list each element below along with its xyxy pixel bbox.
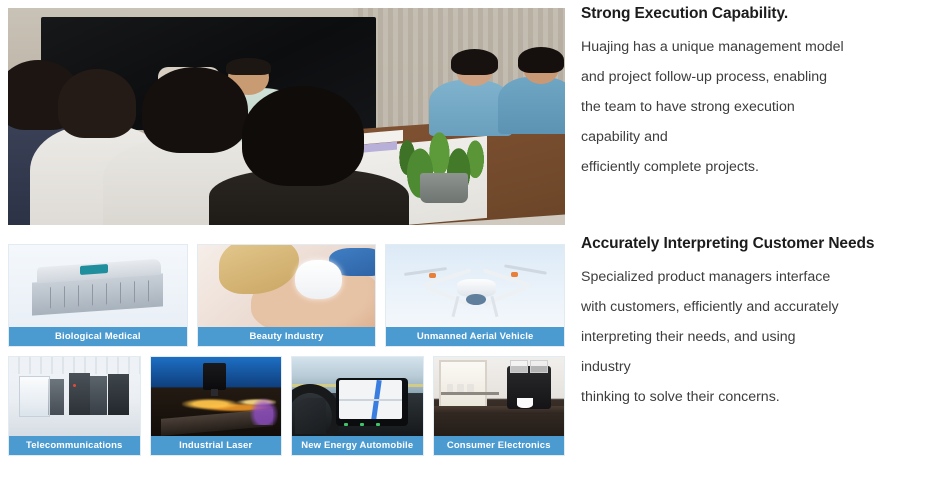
section-heading: Accurately Interpreting Customer Needs — [581, 234, 933, 254]
potted-plant-pot — [420, 173, 468, 203]
text-block-execution-capability: Strong Execution Capability. Huajing has… — [581, 4, 929, 182]
foreground-person-4-head — [242, 86, 365, 186]
lab-analyzer-image — [9, 245, 187, 327]
industry-tile-row-2: Telecommunications Industrial Laser — [8, 356, 565, 456]
industry-tile-biological-medical[interactable]: Biological Medical — [8, 244, 188, 347]
industry-tile-beauty-industry[interactable]: Beauty Industry — [197, 244, 377, 347]
industry-tile-telecommunications[interactable]: Telecommunications — [8, 356, 141, 456]
industry-tile-label: Unmanned Aerial Vehicle — [386, 327, 564, 346]
team-meeting-photo — [8, 8, 565, 225]
industry-tile-label: Telecommunications — [9, 436, 140, 455]
industry-tile-label: New Energy Automobile — [292, 436, 423, 455]
section-heading: Strong Execution Capability. — [581, 4, 929, 24]
text-block-customer-needs: Accurately Interpreting Customer Needs S… — [581, 234, 933, 412]
left-column: Biological Medical Beauty Industry — [0, 0, 570, 484]
right-column: Strong Execution Capability. Huajing has… — [570, 0, 936, 484]
ev-dashboard-image — [292, 357, 423, 436]
industry-tile-label: Beauty Industry — [198, 327, 376, 346]
body-line: and project follow-up process, enabling — [581, 62, 929, 92]
industry-tile-consumer-electronics[interactable]: Consumer Electronics — [433, 356, 566, 456]
industry-tile-label: Industrial Laser — [151, 436, 282, 455]
attendee-right-2-hair — [518, 47, 564, 73]
body-line: industry — [581, 352, 933, 382]
industry-tile-grid: Biological Medical Beauty Industry — [8, 244, 565, 456]
industry-tile-new-energy-automobile[interactable]: New Energy Automobile — [291, 356, 424, 456]
body-line: interpreting their needs, and using — [581, 322, 933, 352]
industry-tile-label: Biological Medical — [9, 327, 187, 346]
industry-tile-unmanned-aerial-vehicle[interactable]: Unmanned Aerial Vehicle — [385, 244, 565, 347]
speaker-hair — [226, 58, 271, 75]
body-line: the team to have strong execution — [581, 92, 929, 122]
data-center-image — [9, 357, 140, 436]
foreground-person-3-head — [142, 67, 248, 154]
meeting-room-scene — [8, 8, 565, 225]
drone-image — [386, 245, 564, 327]
body-line: efficiently complete projects. — [581, 152, 929, 182]
page-root: Biological Medical Beauty Industry — [0, 0, 936, 484]
body-line: with customers, efficiently and accurate… — [581, 292, 933, 322]
body-line: Specialized product managers interface — [581, 262, 933, 292]
attendee-right-1-hair — [451, 49, 498, 75]
body-line: Huajing has a unique management model — [581, 32, 929, 62]
industry-tile-row-1: Biological Medical Beauty Industry — [8, 244, 565, 347]
attendee-right-2-torso — [498, 77, 565, 133]
industry-tile-label: Consumer Electronics — [434, 436, 565, 455]
body-line: capability and — [581, 122, 929, 152]
coffee-machine-image — [434, 357, 565, 436]
industry-tile-industrial-laser[interactable]: Industrial Laser — [150, 356, 283, 456]
foreground-person-2-head — [58, 69, 136, 138]
laser-cutting-image — [151, 357, 282, 436]
body-line: thinking to solve their concerns. — [581, 382, 933, 412]
beauty-device-image — [198, 245, 376, 327]
